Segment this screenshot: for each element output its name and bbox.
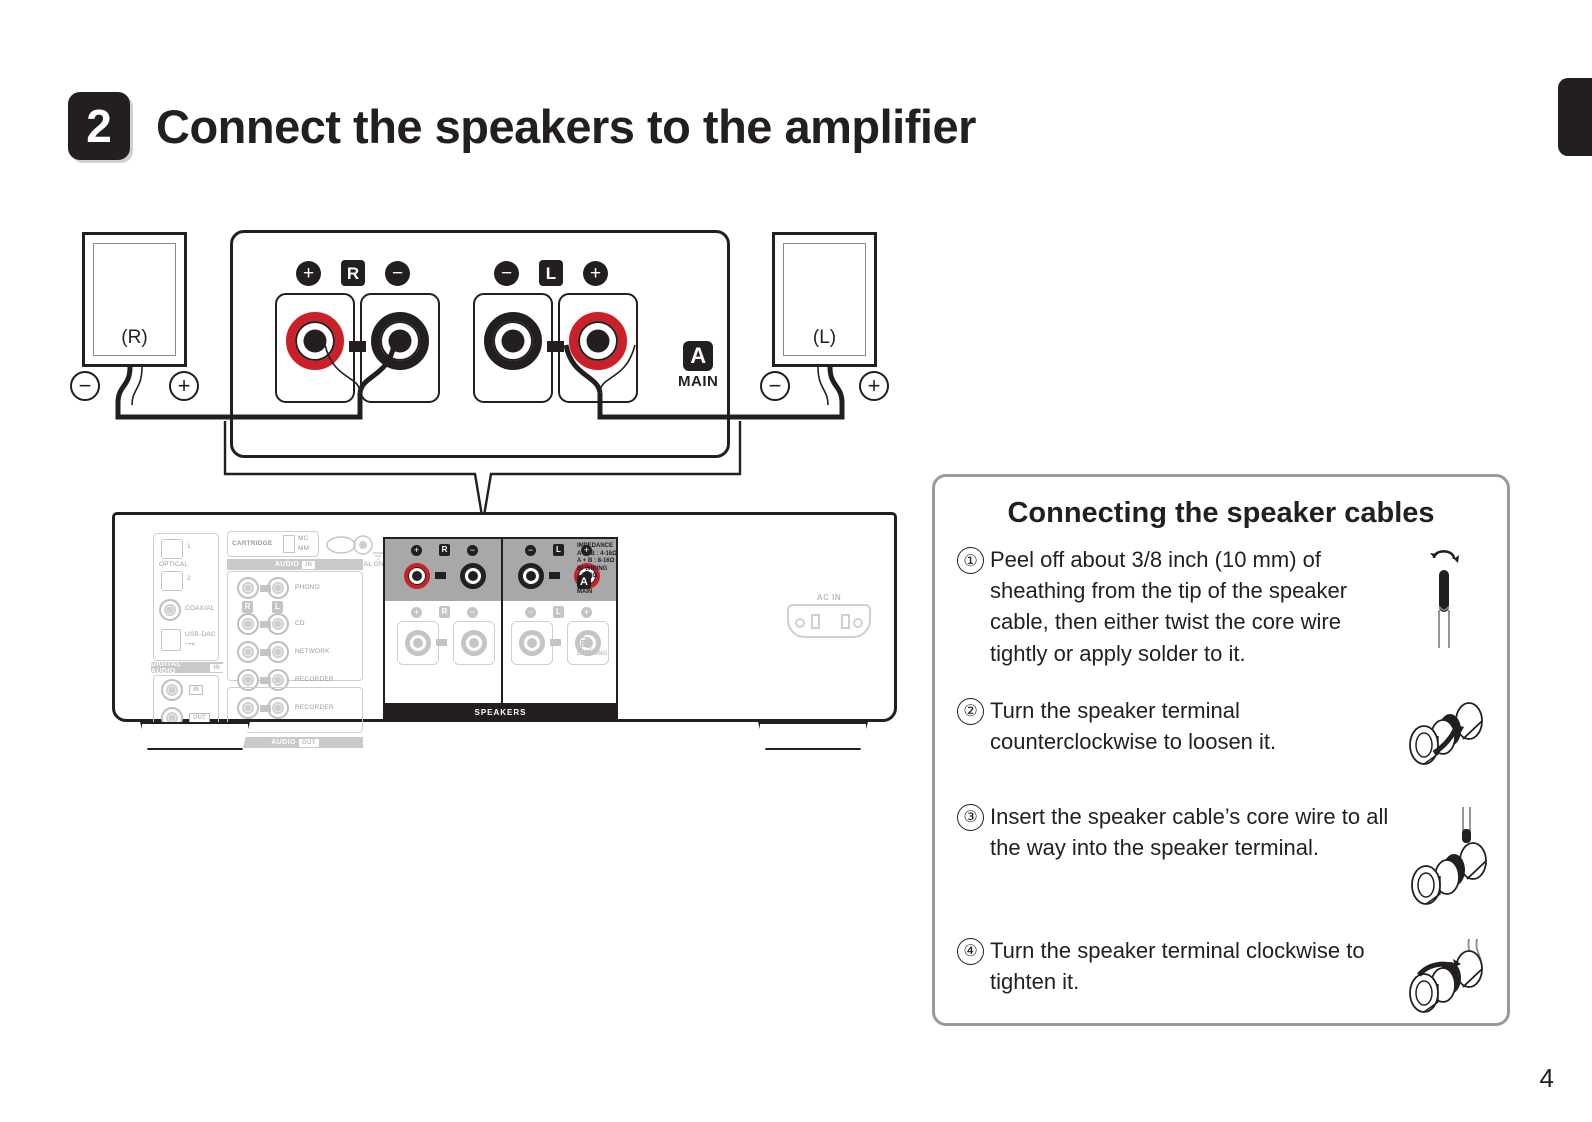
audio-in-row-label: PHONO [295,584,320,591]
digital-audio-section-bar: DIGITAL AUDIO IN [151,662,223,673]
rear-bridge [435,572,446,579]
instruction-panel: Connecting the speaker cables ① Peel off… [932,474,1510,1026]
optical-2-label: 2 [187,575,191,582]
jack-connector [260,585,271,592]
audio-in-channel-r-label: R [242,601,253,613]
optical-jack-2-icon[interactable] [161,571,183,591]
rear-post-b-r-minus[interactable] [461,630,487,656]
page-number: 4 [1540,1063,1554,1094]
rear-post-b-l-minus[interactable] [519,630,545,656]
chassis-foot-right [758,722,868,750]
jack-connector [260,649,271,656]
instruction-step: ① Peel off about 3/8 inch (10 mm) of she… [957,544,1493,669]
terminal-bridge [349,341,366,352]
audio-out-row-label: RECORDER [295,704,334,711]
step-illustration [1397,695,1493,775]
audio-out-section-bar: AUDIO OUT [227,737,363,748]
amplifier-rear-panel: 1 OPTICAL 2 COAXIAL USB-DAC −•< DIGITAL … [112,512,897,722]
ir-control-out-tag: OUT [189,713,210,723]
zone-b-l-channel: L [553,606,564,618]
step-illustration [1397,544,1493,656]
audio-in-row-label: NETWORK [295,648,330,655]
audio-in-section-bar: AUDIO IN [227,559,363,570]
impedance-title: IMPEDANCE [577,543,617,551]
usb-dac-label: USB-DAC [185,631,216,638]
rear-bridge [549,572,560,579]
cartridge-label: CARTRIDGE [232,540,272,547]
cartridge-mm-label: MM [298,545,309,552]
zone-b-r-minus-symbol: − [467,607,478,618]
instruction-step: ④ Turn the speaker terminal clockwise to… [957,935,1493,1019]
optical-jack-1-icon[interactable] [161,539,183,559]
speakers-section-bar: SPEAKERS [383,705,618,719]
coaxial-label: COAXIAL [185,605,215,612]
rear-post-a-r-plus[interactable] [404,563,430,589]
insert-wire-icon [1397,801,1493,909]
ir-control-in-tag: IN [189,685,203,695]
rear-post-b-r-plus[interactable] [405,630,431,656]
page-header: 2 Connect the speakers to the amplifier [68,92,976,160]
stripped-wire-twist-icon [1410,544,1480,656]
digital-audio-section-label: DIGITAL AUDIO [151,661,207,675]
zone-a-l-channel: L [553,544,564,556]
instruction-step: ② Turn the speaker terminal counterclock… [957,695,1493,775]
step-number: ③ [957,804,984,831]
manual-page: 2 Connect the speakers to the amplifier … [0,0,1592,1122]
ac-inlet-socket-icon[interactable] [787,604,871,638]
audio-in-channel-l-label: L [272,601,283,613]
audio-out-tag: OUT [299,739,319,747]
step-number-badge: 2 [68,92,130,160]
impedance-line: A or B : 4-16Ω [577,551,617,559]
zone-a-r-plus-symbol: + [411,545,422,556]
step-illustration [1397,801,1493,909]
cartridge-mc-label: MC [298,535,309,542]
speaker-cables [70,225,890,490]
rear-bridge [550,639,561,646]
audio-in-section-label: AUDIO [275,561,300,568]
zone-a-r-minus-symbol: − [467,545,478,556]
step-text: Turn the speaker terminal clockwise to t… [984,935,1397,997]
audio-in-cd-r-jack[interactable] [237,613,259,635]
terminal-bridge [547,341,564,352]
speaker-connection-diagram: + R − − L + [70,225,890,490]
rear-post-a-r-minus[interactable] [460,563,486,589]
ac-in-label: AC IN [787,593,871,602]
jack-connector [260,621,271,628]
step-text: Insert the speaker cable’s core wire to … [984,801,1397,863]
terminal-tighten-icon [1397,935,1493,1019]
audio-out-section-label: AUDIO [271,739,296,746]
terminal-loosen-icon [1397,695,1493,775]
optical-label: OPTICAL [159,561,188,568]
ac-inlet-screw-right [853,618,863,628]
step-text: Turn the speaker terminal counterclockwi… [984,695,1397,757]
zone-a-r-channel: R [439,544,450,556]
page-edge-tab [1558,78,1592,156]
chassis-foot-left [140,722,250,750]
zone-a-l-minus-symbol: − [525,545,536,556]
zone-b-r-plus-symbol: + [411,607,422,618]
speakers-channel-divider [501,539,503,703]
usb-icon: −•< [185,641,195,648]
step-text: Peel off about 3/8 inch (10 mm) of sheat… [984,544,1397,669]
instruction-panel-title: Connecting the speaker cables [935,497,1507,530]
zone-b-l-plus-symbol: + [581,607,592,618]
zone-b-r-channel: R [439,606,450,618]
impedance-line: A + B : 8-16Ω [577,558,617,566]
ac-inlet-pin [841,614,850,629]
impedance-line: BI-WIRING [577,566,617,574]
ac-inlet: AC IN [787,593,871,638]
audio-in-network-r-jack[interactable] [237,641,259,663]
rear-bridge [436,639,447,646]
instruction-step: ③ Insert the speaker cable’s core wire t… [957,801,1493,909]
rear-zone-b-badge: B BI-WIRING [577,637,607,657]
digital-audio-in-tag: IN [210,664,223,672]
rear-speakers-block: + R − − L + IMPEDANCE A or B : 4-16Ω A +… [383,537,618,705]
audio-in-phono-r-jack[interactable] [237,577,259,599]
ir-control-in-jack-icon[interactable] [161,679,183,701]
audio-in-row-label: CD [295,620,305,627]
jack-connector [260,677,271,684]
step-number: ① [957,547,984,574]
step-illustration [1397,935,1493,1019]
jack-connector [260,705,271,712]
usb-dac-port-icon[interactable] [161,629,181,651]
ac-inlet-screw-left [795,618,805,628]
audio-out-recorder-r-jack[interactable] [237,697,259,719]
ac-inlet-pin [811,614,820,629]
step-number: ④ [957,938,984,965]
optical-1-label: 1 [187,543,191,550]
page-title: Connect the speakers to the amplifier [156,99,976,154]
instruction-step-list: ① Peel off about 3/8 inch (10 mm) of she… [935,544,1507,1019]
rear-zone-a-badge: A MAIN [577,575,592,595]
step-number: ② [957,698,984,725]
rear-post-a-l-minus[interactable] [518,563,544,589]
audio-in-tag: IN [302,561,315,569]
coaxial-jack-icon[interactable] [159,599,181,621]
cartridge-switch-icon[interactable] [283,535,295,553]
zone-b-l-minus-symbol: − [525,607,536,618]
audio-in-row-label: RECORDER [295,676,334,683]
